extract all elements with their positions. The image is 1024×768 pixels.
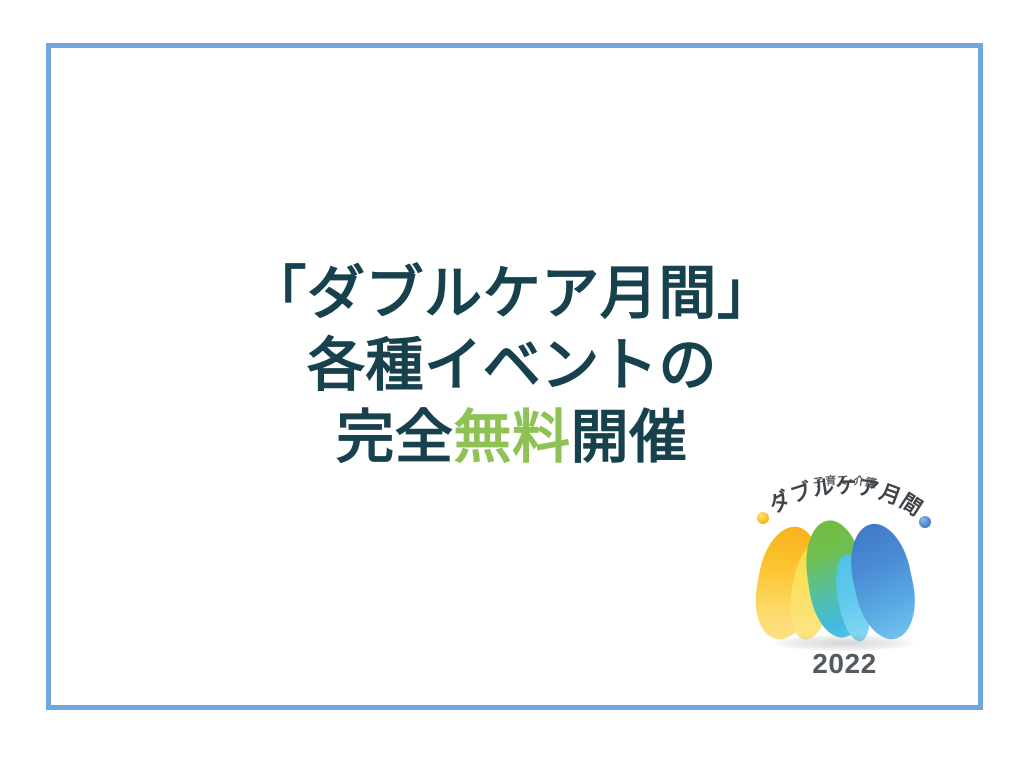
logo-year-label: 2022 xyxy=(742,648,947,680)
headline-line-3-prefix: 完全 xyxy=(336,405,453,470)
logo-name-text: ダブルケア月間 xyxy=(765,475,926,521)
svg-text:ダブルケア月間: ダブルケア月間 xyxy=(765,475,926,521)
headline-line-1: 「ダブルケア月間」 xyxy=(0,265,1024,323)
double-care-month-logo: 子育て・介護 ダブルケア月間 2022 xyxy=(742,452,947,687)
headline-line-3-suffix: 開催 xyxy=(571,405,688,470)
headline-block: 「ダブルケア月間」 各種イベントの 完全無料開催 xyxy=(0,265,1024,467)
slide-canvas: 「ダブルケア月間」 各種イベントの 完全無料開催 子育て・介護 ダブルケア月間 xyxy=(0,0,1024,768)
logo-w-mark-icon xyxy=(742,520,947,640)
headline-line-2: 各種イベントの xyxy=(0,337,1024,395)
headline-free-highlight: 無料 xyxy=(453,405,570,470)
